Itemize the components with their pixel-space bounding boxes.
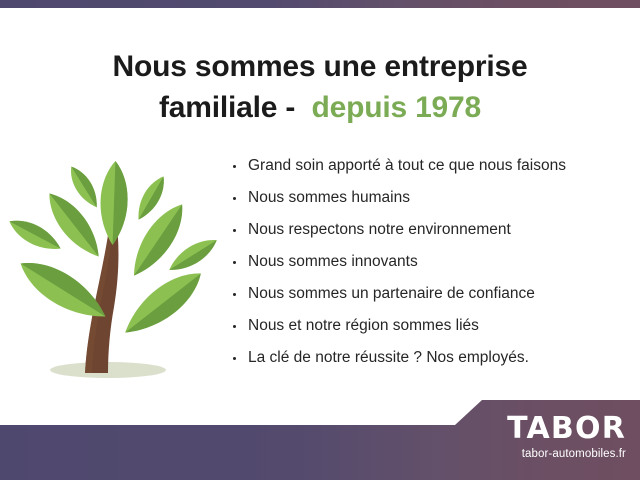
leaf-lower-right <box>116 262 210 344</box>
list-item-label: La clé de notre réussite ? Nos employés. <box>248 350 529 366</box>
leaf-top-center <box>99 161 129 246</box>
list-item-label: Nous sommes humains <box>248 190 410 206</box>
benefits-list: Grand soin apporté à tout ce que nous fa… <box>231 150 631 374</box>
list-item: Nous sommes humains <box>231 182 631 214</box>
top-accent-bar <box>0 0 640 8</box>
bullet-icon <box>233 165 236 168</box>
list-item-label: Nous et notre région sommes liés <box>248 318 479 334</box>
list-item-label: Nous sommes innovants <box>248 254 418 270</box>
headline-prefix: familiale <box>159 91 277 124</box>
headline-accent: depuis 1978 <box>311 91 481 124</box>
bullet-icon <box>233 229 236 232</box>
bullet-icon <box>233 325 236 328</box>
bullet-icon <box>233 197 236 200</box>
list-item: La clé de notre réussite ? Nos employés. <box>231 342 631 374</box>
list-item: Nous sommes un partenaire de confiance <box>231 278 631 310</box>
bullet-icon <box>233 261 236 264</box>
page-title: Nous sommes une entreprise familiale - d… <box>0 46 640 129</box>
tree-logo-illustration <box>8 155 223 390</box>
brand-logo[interactable]: TABOR tabor-automobiles.fr <box>474 414 626 461</box>
bullet-icon <box>233 357 236 360</box>
list-item-label: Grand soin apporté à tout ce que nous fa… <box>248 158 566 174</box>
bullet-icon <box>233 293 236 296</box>
headline-line-1: Nous sommes une entreprise <box>0 46 640 87</box>
list-item: Grand soin apporté à tout ce que nous fa… <box>231 150 631 182</box>
list-item: Nous et notre région sommes liés <box>231 310 631 342</box>
list-item-label: Nous respectons notre environnement <box>248 222 511 238</box>
leaf-upper-left <box>40 186 109 264</box>
brand-url: tabor-automobiles.fr <box>474 449 626 461</box>
headline-spacer <box>295 91 311 124</box>
list-item: Nous sommes innovants <box>231 246 631 278</box>
brand-wordmark: TABOR <box>474 414 626 444</box>
list-item: Nous respectons notre environnement <box>231 214 631 246</box>
headline-line-2: familiale - depuis 1978 <box>0 87 640 128</box>
leaf-upper-right <box>123 197 193 283</box>
list-item-label: Nous sommes un partenaire de confiance <box>248 286 535 302</box>
